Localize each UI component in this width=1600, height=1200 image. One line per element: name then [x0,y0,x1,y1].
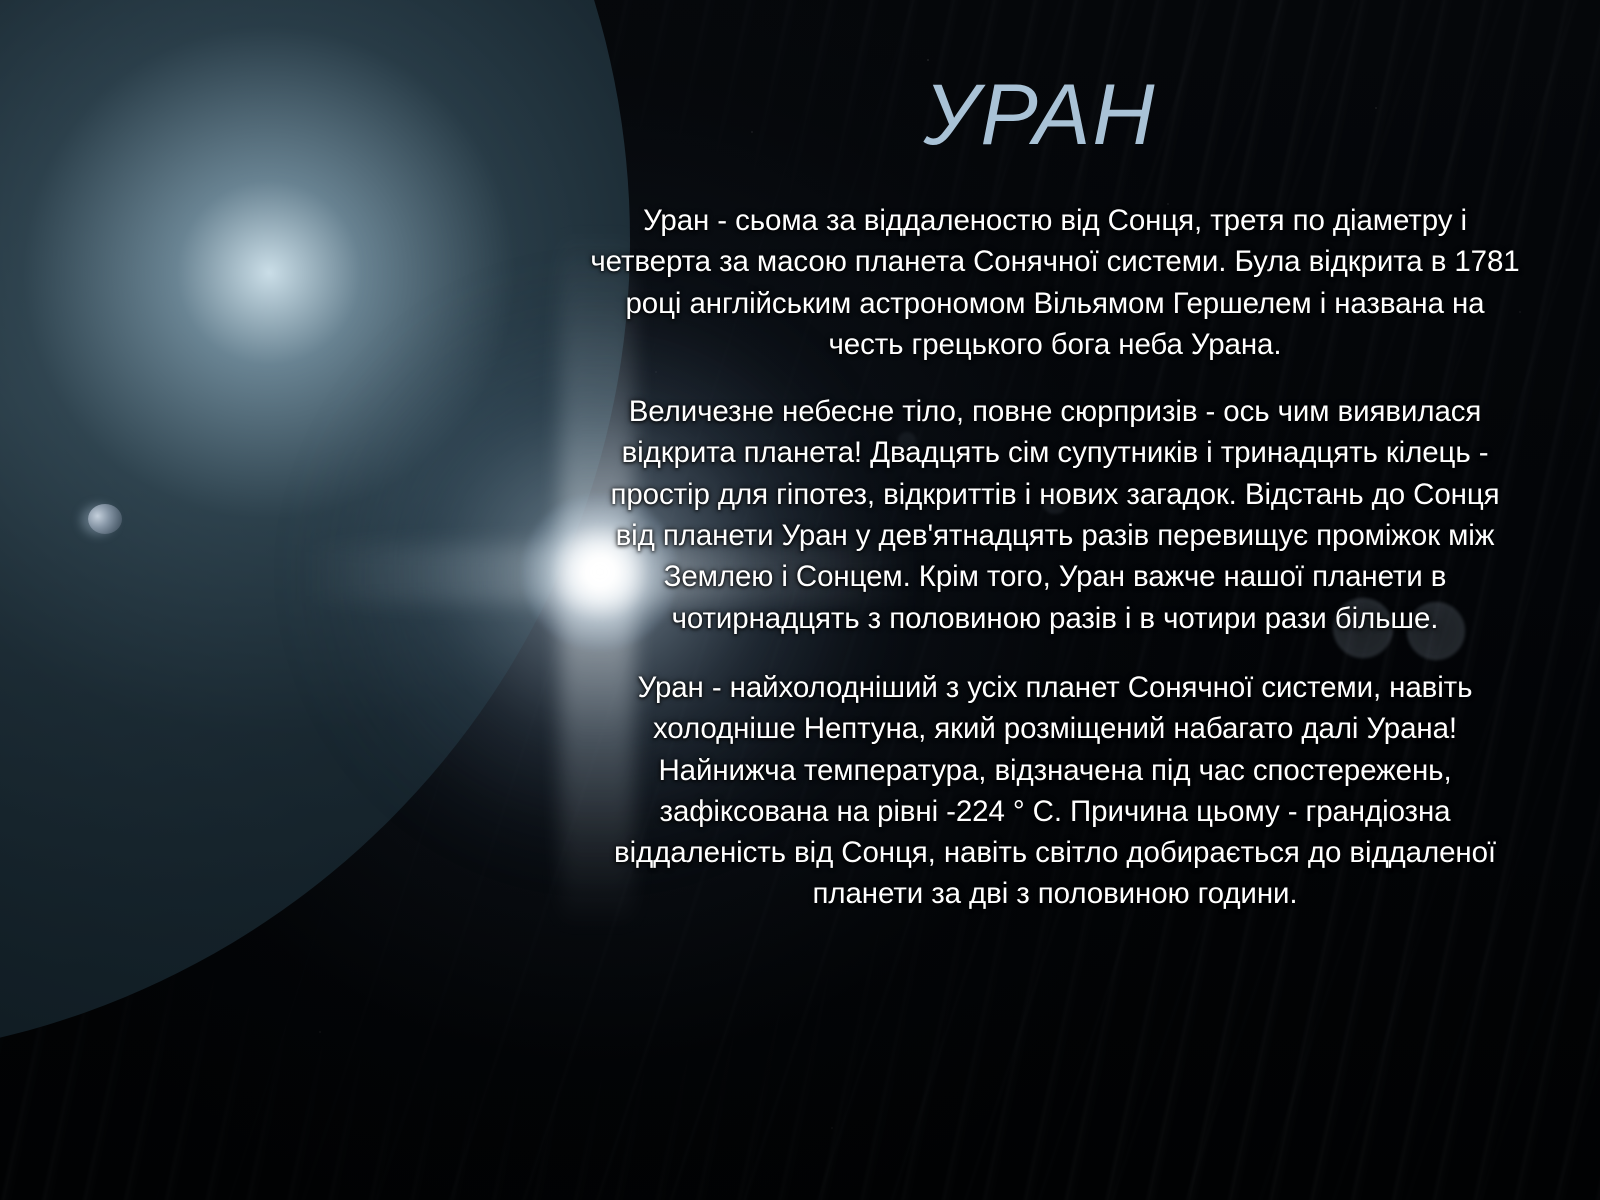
planet-atmosphere-halo [0,0,656,1086]
paragraph-3: Уран - найхолодніший з усіх планет Соняч… [590,667,1520,915]
paragraph-2: Величезне небесне тіло, повне сюрпризів … [590,391,1520,639]
planet-crescent-rim [0,0,630,1060]
page-title: УРАН [590,72,1520,158]
slide-uranus: УРАН Уран - сьома за віддаленостю від Со… [0,0,1600,1200]
paragraph-1: Уран - сьома за віддаленостю від Сонця, … [590,200,1520,365]
uranus-planet [0,0,630,1060]
planet-disc [0,0,630,1060]
slide-text-column: УРАН Уран - сьома за віддаленостю від Со… [590,72,1520,915]
uranus-moon [88,504,122,534]
